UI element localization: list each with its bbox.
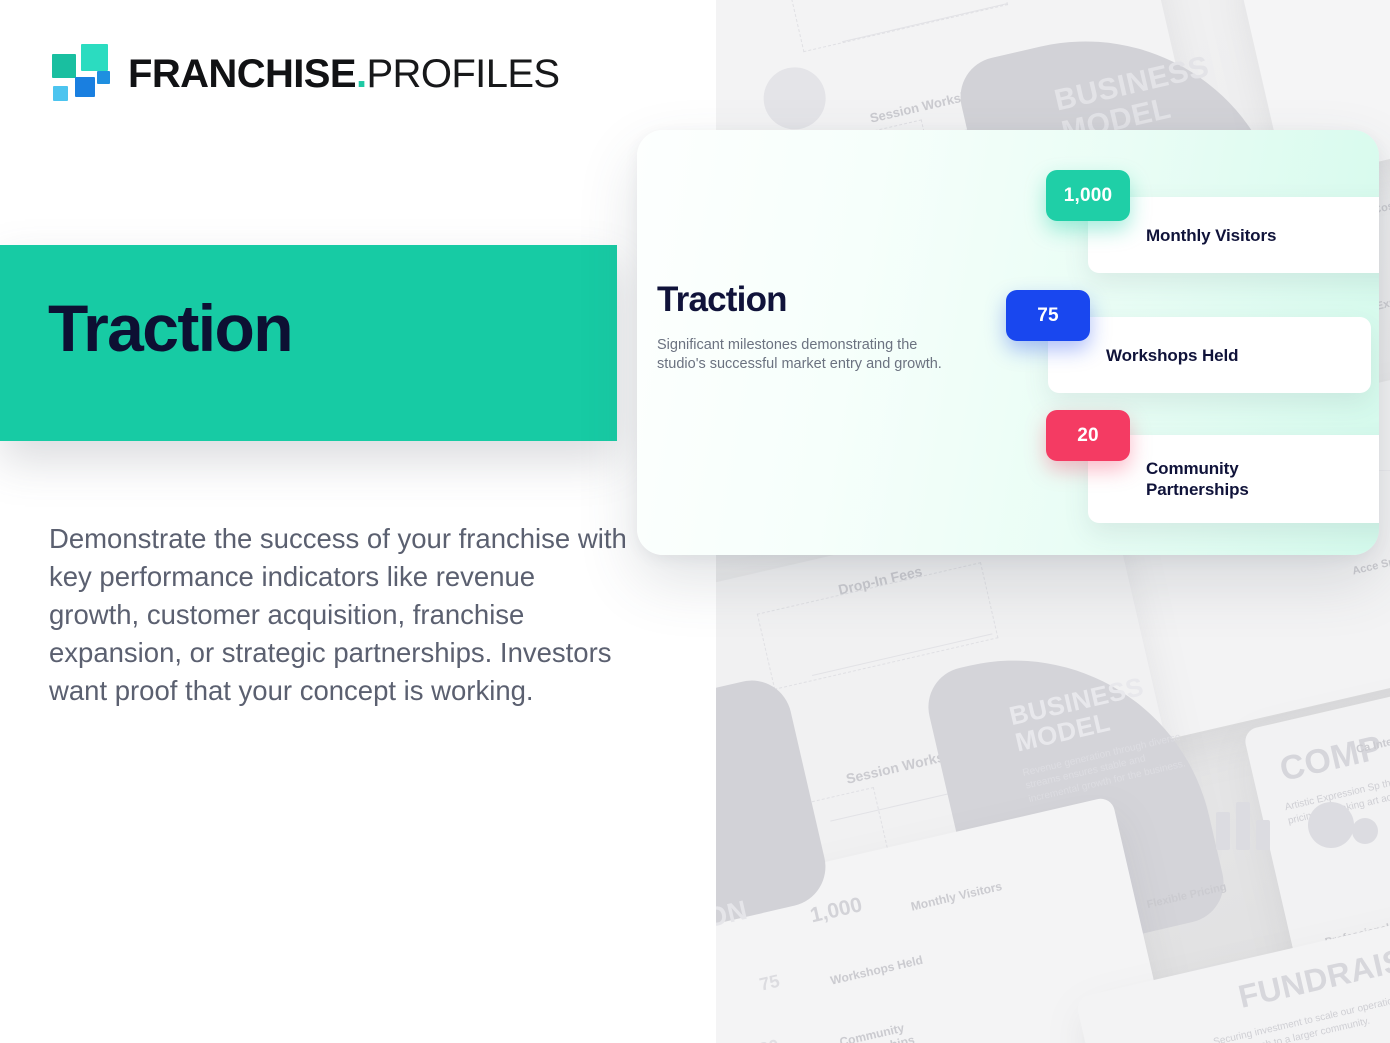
metric-panel-monthly-visitors: Monthly Visitors (1088, 197, 1379, 273)
card-text-block: Traction Significant milestones demonstr… (657, 282, 987, 374)
metric-row-workshops-held: 75 Workshops Held (1006, 290, 1371, 393)
logo-mark-icon (48, 44, 110, 104)
ghost-traction-label-1: Workshops Held (829, 953, 924, 988)
ghost-gear-small-icon (1352, 818, 1378, 844)
metric-badge-monthly-visitors: 1,000 (1046, 170, 1130, 221)
section-description: Demonstrate the success of your franchis… (49, 520, 629, 710)
metric-panel-community-partnerships: Community Partnerships (1088, 435, 1379, 523)
slide-canvas: Drop-In Fees Session Workshops Commissio… (0, 0, 1390, 1043)
logo-text-franchise: FRANCHISE (128, 54, 356, 94)
logo-wordmark: FRANCHISE.PROFILES (128, 54, 560, 94)
ghost-bar-icon-1 (1216, 812, 1230, 850)
metric-badge-community-partnerships: 20 (1046, 410, 1130, 461)
ghost-bar-icon-2 (1236, 802, 1250, 850)
slide-preview-card[interactable]: Traction Significant milestones demonstr… (637, 130, 1379, 555)
logo-text-dot: . (356, 54, 367, 94)
ghost-title-competition: COMP (1277, 730, 1386, 788)
metric-panel-workshops-held: Workshops Held (1048, 317, 1371, 393)
ghost-traction-value-1: 75 (757, 971, 781, 996)
card-subtitle: Significant milestones demonstrating the… (657, 336, 957, 374)
ghost-traction-value-0: 1,000 (808, 893, 865, 928)
logo-text-profiles: PROFILES (366, 54, 559, 94)
brand-logo: FRANCHISE.PROFILES (48, 44, 560, 104)
section-banner: Traction (0, 245, 617, 441)
metric-badge-workshops-held: 75 (1006, 290, 1090, 341)
ghost-bar-icon-3 (1256, 820, 1270, 850)
card-title: Traction (657, 282, 987, 317)
ghost-traction-label-2: Community Partnerships (838, 1011, 951, 1043)
ghost-gear-icon (1308, 802, 1354, 848)
metric-row-community-partnerships: 20 Community Partnerships (1046, 410, 1379, 523)
page-title: Traction (48, 295, 292, 361)
metric-label-monthly-visitors: Monthly Visitors (1146, 225, 1276, 246)
ghost-traction-value-2: 20 (757, 1035, 781, 1043)
metric-row-monthly-visitors: 1,000 Monthly Visitors (1046, 170, 1379, 273)
metric-label-community-partnerships: Community Partnerships (1146, 458, 1249, 500)
metric-label-workshops-held: Workshops Held (1106, 345, 1238, 366)
ghost-traction-label-0: Monthly Visitors (909, 879, 1003, 914)
